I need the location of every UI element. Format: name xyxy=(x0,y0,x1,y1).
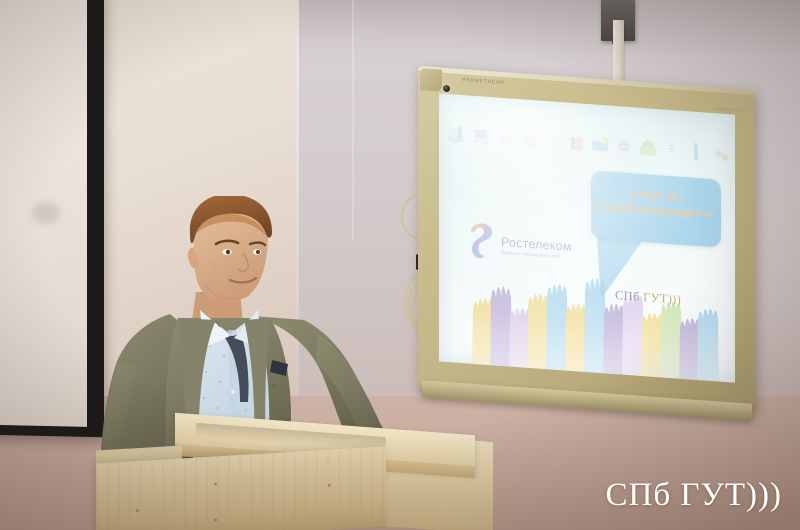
pen-icon xyxy=(686,140,706,163)
power-led-icon xyxy=(443,85,450,93)
interactive-whiteboard[interactable]: PROMETHEAN ACTIVboard xyxy=(418,66,755,412)
open-book-icon xyxy=(543,130,563,153)
document-icon xyxy=(662,138,682,161)
projected-slide[interactable]: Я ИДУ НА БАЗОВУЮ КАФЕДРУ!!! xyxy=(439,93,735,382)
scanner-icon xyxy=(447,123,467,146)
ceiling-shadow xyxy=(296,0,800,60)
whiteboard-brand-label: PROMETHEAN xyxy=(462,77,504,86)
photo-scene: PROMETHEAN ACTIVboard xyxy=(0,0,800,530)
mobile-phone-icon xyxy=(495,126,515,149)
raised-hands-icon xyxy=(455,261,723,383)
spbgut-prefix: СПб xyxy=(615,288,643,304)
frame-corner xyxy=(420,68,442,92)
spbgut-highlight: ГУТ xyxy=(643,290,668,306)
gear-icon xyxy=(710,142,730,165)
camera-icon xyxy=(519,128,539,151)
slide-icon-strip xyxy=(447,120,730,168)
speech-bubble: Я ИДУ НА БАЗОВУЮ КАФЕДРУ!!! xyxy=(591,170,721,247)
whiteboard-model-label: ACTIVboard xyxy=(713,106,743,113)
cd-disc-icon xyxy=(614,135,634,158)
watermark: СПб ГУТ))) xyxy=(606,477,782,514)
notebook-icon xyxy=(567,132,587,155)
spbgut-suffix: ))) xyxy=(668,292,681,307)
folder-icon xyxy=(590,133,610,156)
toolbox-icon xyxy=(638,137,658,160)
laptop-icon xyxy=(471,125,491,148)
